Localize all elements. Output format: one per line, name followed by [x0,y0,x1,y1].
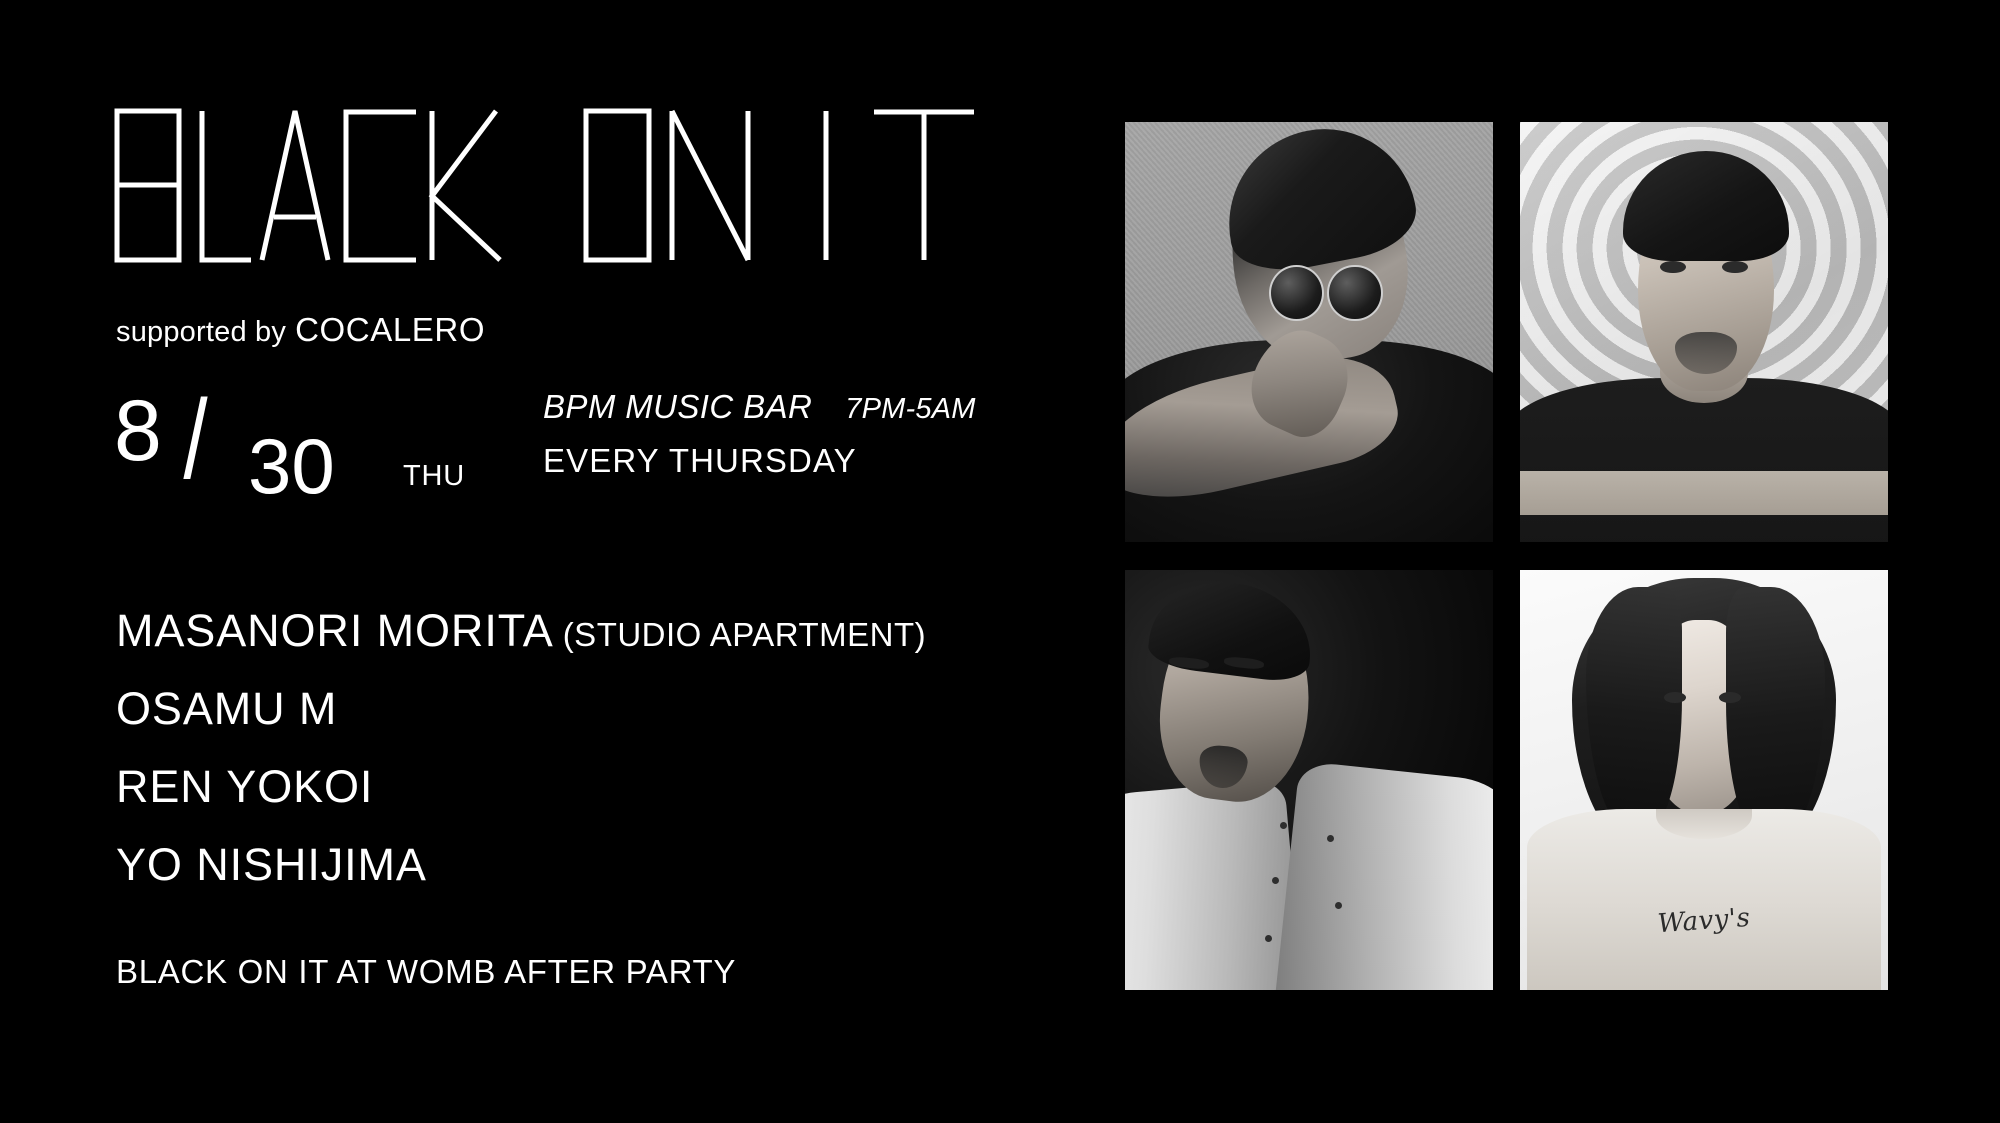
photo-eye-left [1660,261,1686,274]
jacket-button [1335,902,1342,909]
photo-bottom-left: artist portrait in white jacket on dark … [1125,570,1493,990]
venue-name: BPM MUSIC BAR [543,388,812,425]
supported-by-prefix: supported by [116,316,286,348]
artist-name: REN YOKOI [116,761,373,812]
flyer-text-column: BLACK ON IT [0,0,1100,1123]
date-separator: / [183,384,207,496]
artist-photo-grid: artist portrait in sunglasses on grey ba… [1125,122,1888,990]
artist-affiliation: (STUDIO APARTMENT) [563,616,926,653]
sponsor-name: COCALERO [295,311,485,348]
photo-bottom-right: Wavy's long haired artist portrait on wh… [1520,570,1888,990]
after-party-note: BLACK ON IT AT WOMB AFTER PARTY [116,955,736,988]
photo-jacket-right [1275,760,1493,990]
date-day: 30 [248,427,335,505]
list-item: REN YOKOI [116,764,1046,809]
event-title: BLACK ON IT [114,108,1024,263]
event-flyer: BLACK ON IT [0,0,2000,1123]
artist-name: OSAMU M [116,683,337,734]
date-day-of-week: THU [403,462,465,491]
jacket-button [1272,877,1279,884]
event-title-lettering [114,108,1024,263]
supported-by-line: supported byCOCALERO [116,313,485,347]
list-item: OSAMU M [116,686,1046,731]
photo-eye-right [1722,261,1748,274]
venue-recurrence: EVERY THURSDAY [543,444,1013,477]
venue-name-time-line: BPM MUSIC BAR7PM-5AM [543,390,1013,430]
photo-hair-front-left [1586,587,1682,831]
photo-eye-left [1664,692,1686,703]
photo-top-left: artist portrait in sunglasses on grey ba… [1125,122,1493,542]
photo-jacket-left [1125,780,1303,990]
artist-lineup: MASANORI MORITA(STUDIO APARTMENT) OSAMU … [116,608,1046,920]
list-item: MASANORI MORITA(STUDIO APARTMENT) [116,608,1046,653]
venue-block: BPM MUSIC BAR7PM-5AM EVERY THURSDAY [543,390,1013,477]
sunglasses-right-lens-icon [1327,265,1382,322]
sunglasses-left-lens-icon [1269,265,1324,322]
venue-time: 7PM-5AM [845,393,975,425]
photo-shirt-stripe [1520,471,1888,515]
artist-name: YO NISHIJIMA [116,839,427,890]
jacket-button [1280,822,1287,829]
jacket-button [1327,835,1334,842]
list-item: YO NISHIJIMA [116,842,1046,887]
date-month: 8 [114,388,162,474]
artist-name: MASANORI MORITA [116,605,554,656]
photo-top-right: artist portrait in striped tee on light … [1520,122,1888,542]
date-and-venue-row: 8 / 30 THU BPM MUSIC BAR7PM-5AM EVERY TH… [108,400,1008,520]
photo-eye-right [1719,692,1741,703]
